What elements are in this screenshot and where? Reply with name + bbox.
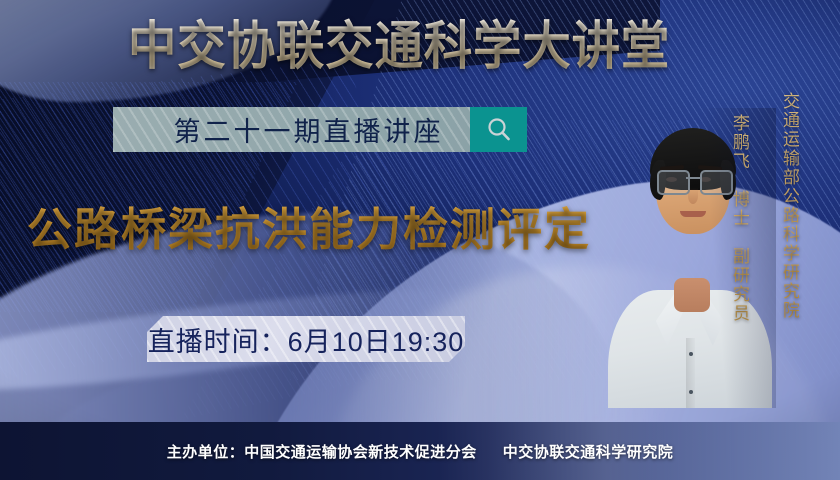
footer-credits: 主办单位：中国交通运输协会新技术促进分会中交协联交通科学研究院	[0, 441, 840, 462]
footer-prefix: 主办单位：	[167, 444, 245, 461]
search-icon	[484, 115, 514, 145]
episode-banner: 第二十一期直播讲座	[113, 107, 527, 152]
speaker-portrait	[604, 108, 776, 408]
page-title: 中交协联交通科学大讲堂	[128, 16, 670, 78]
portrait-shirt-button	[689, 390, 693, 394]
footer-organizer-1: 中国交通运输协会新技术促进分会	[244, 444, 477, 461]
lecture-headline: 公路桥梁抗洪能力检测评定	[27, 201, 591, 259]
poster-canvas: 李鹏飞 博士 副研究员 交通运输部公路科学研究院 中交协联交通科学大讲堂 第二十…	[0, 0, 840, 480]
glasses-bridge	[686, 177, 700, 179]
broadcast-time-label: 直播时间：6月10日19:30	[148, 320, 465, 359]
episode-label: 第二十一期直播讲座	[140, 110, 444, 149]
speaker-name-vertical: 李鹏飞 博士 副研究员	[729, 114, 749, 323]
broadcast-time-banner: 直播时间：6月10日19:30	[147, 316, 465, 362]
portrait-shirt-button	[689, 352, 693, 356]
glasses-lens-left	[657, 170, 690, 195]
search-icon-container[interactable]	[470, 107, 527, 152]
speaker-organization-vertical: 交通运输部公路科学研究院	[779, 92, 799, 320]
portrait-mouth	[680, 211, 706, 217]
footer-organizer-2: 中交协联交通科学研究院	[503, 444, 674, 461]
portrait-neck	[674, 278, 710, 312]
portrait-nose	[688, 188, 698, 204]
episode-banner-fill: 第二十一期直播讲座	[113, 107, 470, 152]
portrait-shirt-placket	[686, 338, 695, 408]
